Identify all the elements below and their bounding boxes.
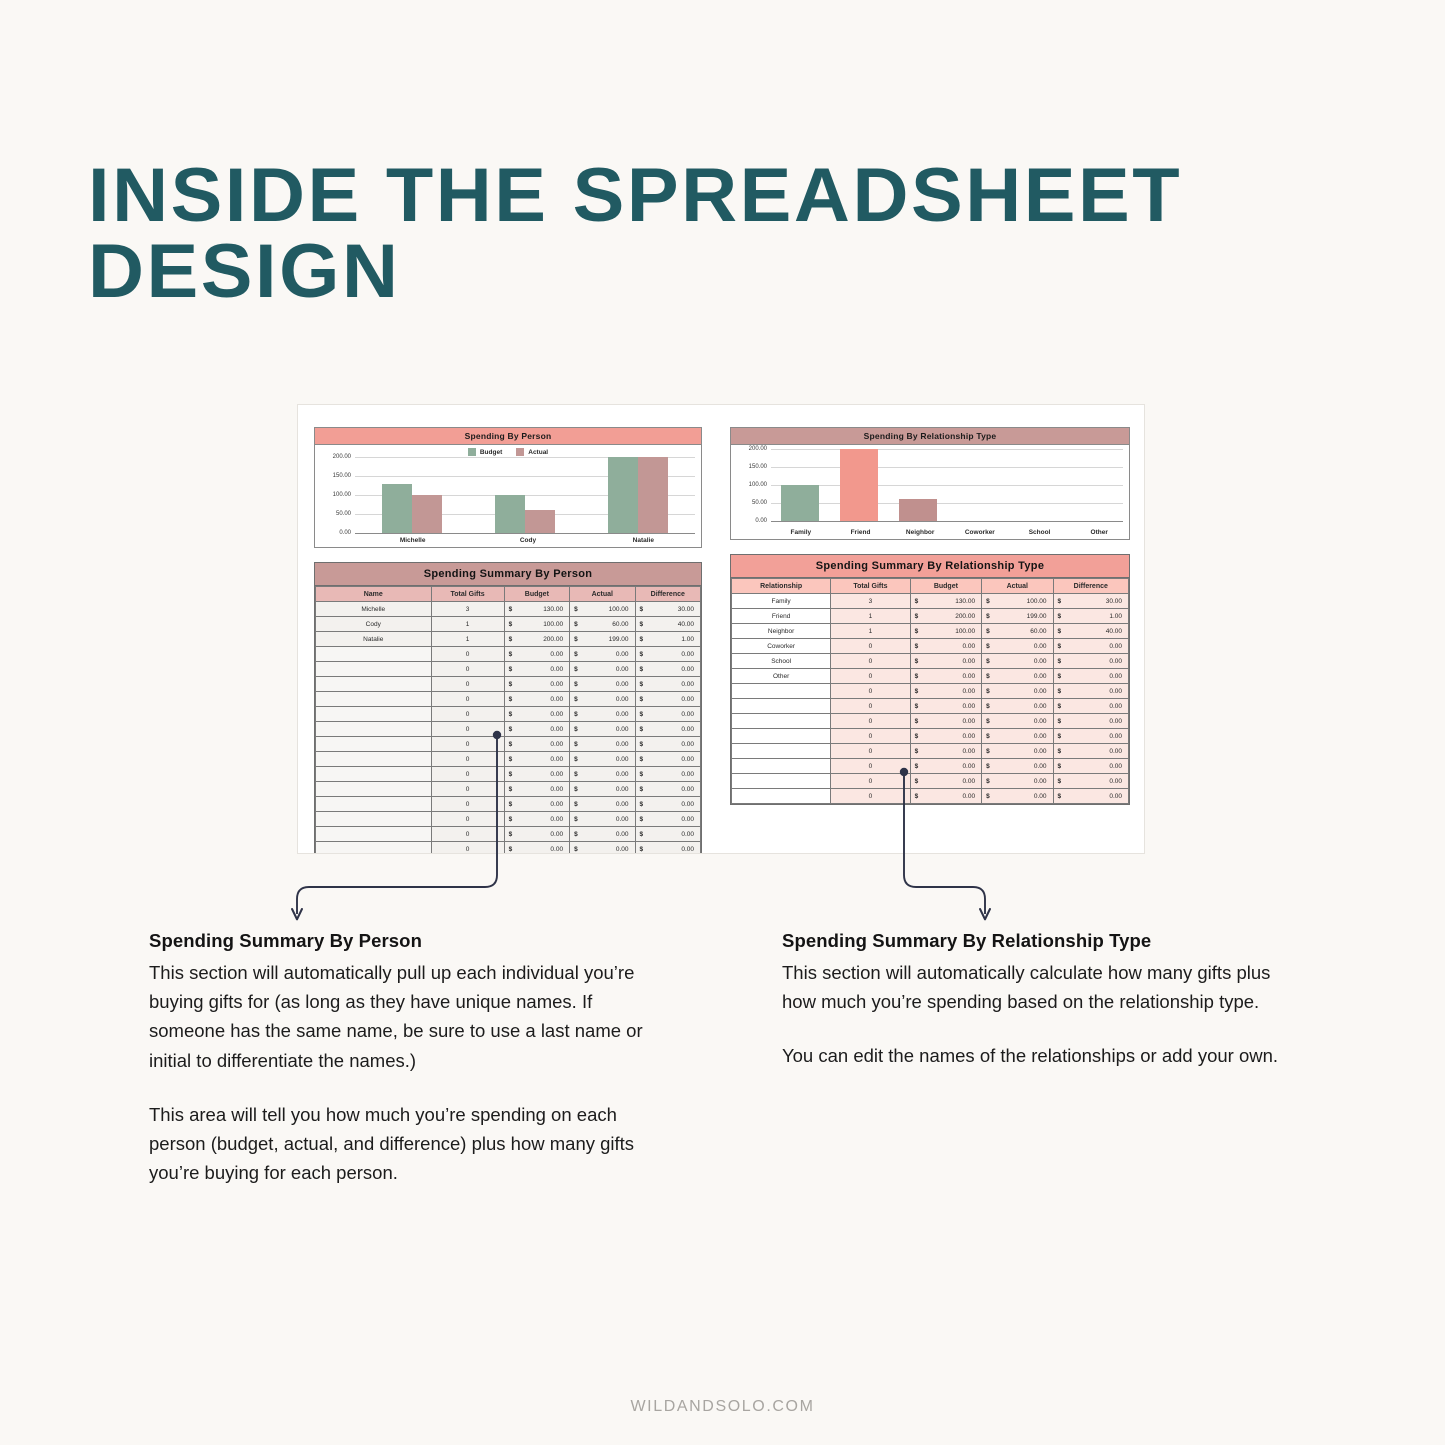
cell-difference[interactable]: $1.00 [1053, 609, 1128, 624]
currency-symbol: $ [640, 816, 644, 823]
bar-michelle-actual [412, 495, 442, 533]
spending-by-relationship-panel: Spending By Relationship Type 200.00 150… [730, 427, 1130, 805]
cell-name[interactable]: Natalie [316, 632, 432, 647]
cell-budget[interactable]: $100.00 [504, 617, 569, 632]
cell-budget[interactable]: $100.00 [910, 624, 981, 639]
cell-difference[interactable]: $0.00 [1053, 774, 1128, 789]
cell-budget[interactable]: $0.00 [910, 654, 981, 669]
cell-budget[interactable]: $0.00 [910, 759, 981, 774]
cell-difference[interactable]: $40.00 [635, 617, 700, 632]
cell-actual[interactable]: $0.00 [982, 714, 1053, 729]
cell-name[interactable] [732, 789, 831, 804]
cell-difference[interactable]: $0.00 [635, 767, 700, 782]
cell-actual[interactable]: $0.00 [570, 692, 635, 707]
table-row[interactable]: 0$0.00$0.00$0.00 [732, 759, 1129, 774]
cell-difference[interactable]: $0.00 [635, 692, 700, 707]
cell-budget[interactable]: $0.00 [504, 797, 569, 812]
cell-difference[interactable]: $0.00 [635, 662, 700, 677]
table-row[interactable]: Neighbor1$100.00$60.00$40.00 [732, 624, 1129, 639]
bar-group-container [355, 457, 695, 533]
cell-budget[interactable]: $0.00 [504, 752, 569, 767]
currency-symbol: $ [1058, 613, 1062, 620]
cell-budget[interactable]: $0.00 [504, 782, 569, 797]
cell-total-gifts[interactable]: 0 [431, 767, 504, 782]
cell-difference[interactable]: $0.00 [635, 782, 700, 797]
cell-actual[interactable]: $100.00 [982, 594, 1053, 609]
currency-symbol: $ [1058, 628, 1062, 635]
cell-total-gifts[interactable]: 0 [431, 692, 504, 707]
cell-total-gifts[interactable]: 0 [831, 699, 910, 714]
currency-symbol: $ [640, 621, 644, 628]
cell-total-gifts[interactable]: 0 [831, 669, 910, 684]
bar-friend [840, 449, 878, 521]
cell-difference[interactable]: $0.00 [1053, 729, 1128, 744]
currency-symbol: $ [574, 741, 578, 748]
cell-name[interactable]: Friend [732, 609, 831, 624]
cell-actual[interactable]: $0.00 [570, 707, 635, 722]
ytick-label: 100.00 [731, 482, 767, 488]
cell-actual[interactable]: $0.00 [570, 782, 635, 797]
cell-total-gifts[interactable]: 0 [831, 759, 910, 774]
cell-total-gifts[interactable]: 1 [431, 632, 504, 647]
cell-actual[interactable]: $0.00 [570, 722, 635, 737]
cell-name[interactable] [732, 729, 831, 744]
bar-group-coworker [947, 445, 1006, 521]
cell-total-gifts[interactable]: 1 [831, 624, 910, 639]
caption-heading-person: Spending Summary By Person [149, 930, 649, 952]
ytick-label: 100.00 [315, 492, 351, 498]
cell-total-gifts[interactable]: 0 [831, 654, 910, 669]
currency-symbol: $ [574, 786, 578, 793]
currency-symbol: $ [1058, 793, 1062, 800]
cell-difference[interactable]: $0.00 [635, 827, 700, 842]
cell-name[interactable] [316, 677, 432, 692]
table-row[interactable]: 0$0.00$0.00$0.00 [732, 699, 1129, 714]
cell-name[interactable] [732, 759, 831, 774]
cell-budget[interactable]: $0.00 [910, 699, 981, 714]
cell-total-gifts[interactable]: 0 [431, 827, 504, 842]
cell-difference[interactable]: $0.00 [635, 647, 700, 662]
cell-budget[interactable]: $0.00 [910, 744, 981, 759]
cell-budget[interactable]: $0.00 [504, 647, 569, 662]
bar-cody-actual [525, 510, 555, 533]
cell-difference[interactable]: $0.00 [635, 707, 700, 722]
cell-total-gifts[interactable]: 0 [431, 812, 504, 827]
cell-total-gifts[interactable]: 0 [431, 722, 504, 737]
currency-symbol: $ [1058, 673, 1062, 680]
spending-by-person-chart: Spending By Person Budget Actual 200.00 [314, 427, 702, 548]
currency-symbol: $ [640, 846, 644, 853]
currency-symbol: $ [640, 636, 644, 643]
currency-symbol: $ [509, 651, 513, 658]
caption-person: Spending Summary By Person This section … [149, 930, 649, 1188]
cell-total-gifts[interactable]: 0 [831, 789, 910, 804]
currency-symbol: $ [640, 786, 644, 793]
cell-difference[interactable]: $30.00 [635, 602, 700, 617]
currency-symbol: $ [640, 771, 644, 778]
cell-difference[interactable]: $0.00 [635, 842, 700, 855]
cell-budget[interactable]: $200.00 [910, 609, 981, 624]
cell-budget[interactable]: $0.00 [910, 774, 981, 789]
chart-title-relationship: Spending By Relationship Type [731, 428, 1129, 445]
col-header-budget: Budget [504, 587, 569, 602]
cell-budget[interactable]: $0.00 [910, 684, 981, 699]
table-row[interactable]: 0$0.00$0.00$0.00 [316, 707, 701, 722]
cell-actual[interactable]: $0.00 [570, 677, 635, 692]
cell-actual[interactable]: $0.00 [570, 662, 635, 677]
cell-budget[interactable]: $0.00 [504, 812, 569, 827]
cell-actual[interactable]: $60.00 [570, 617, 635, 632]
cell-difference[interactable]: $0.00 [635, 752, 700, 767]
table-row[interactable]: 0$0.00$0.00$0.00 [732, 729, 1129, 744]
table-row[interactable]: 0$0.00$0.00$0.00 [732, 789, 1129, 804]
chart-xaxis-person: Michelle Cody Natalie [355, 535, 701, 547]
col-header-budget: Budget [910, 579, 981, 594]
table-row[interactable]: 0$0.00$0.00$0.00 [732, 774, 1129, 789]
cell-name[interactable]: School [732, 654, 831, 669]
table-row[interactable]: 0$0.00$0.00$0.00 [316, 752, 701, 767]
cell-budget[interactable]: $0.00 [504, 767, 569, 782]
cell-actual[interactable]: $0.00 [982, 729, 1053, 744]
cell-actual[interactable]: $0.00 [982, 639, 1053, 654]
bar-family [781, 485, 819, 521]
cell-difference[interactable]: $0.00 [1053, 714, 1128, 729]
currency-symbol: $ [509, 606, 513, 613]
cell-actual[interactable]: $0.00 [982, 669, 1053, 684]
currency-symbol: $ [986, 793, 990, 800]
table-row[interactable]: 0$0.00$0.00$0.00 [316, 677, 701, 692]
cell-actual[interactable]: $0.00 [570, 737, 635, 752]
cell-actual[interactable]: $0.00 [570, 812, 635, 827]
cell-name[interactable]: Other [732, 669, 831, 684]
currency-symbol: $ [574, 666, 578, 673]
bar-group-friend [830, 445, 889, 521]
table-row[interactable]: 0$0.00$0.00$0.00 [732, 714, 1129, 729]
table-row[interactable]: 0$0.00$0.00$0.00 [316, 782, 701, 797]
currency-symbol: $ [986, 613, 990, 620]
currency-symbol: $ [640, 726, 644, 733]
footer-website: WILDANDSOLO.COM [0, 1398, 1445, 1416]
cell-actual[interactable]: $0.00 [982, 744, 1053, 759]
col-header-actual: Actual [570, 587, 635, 602]
cell-total-gifts[interactable]: 3 [431, 602, 504, 617]
currency-symbol: $ [640, 741, 644, 748]
cell-budget[interactable]: $0.00 [910, 729, 981, 744]
table-row[interactable]: 0$0.00$0.00$0.00 [316, 842, 701, 855]
cell-budget[interactable]: $130.00 [504, 602, 569, 617]
table-row[interactable]: Other0$0.00$0.00$0.00 [732, 669, 1129, 684]
cell-total-gifts[interactable]: 0 [831, 684, 910, 699]
cell-budget[interactable]: $0.00 [504, 827, 569, 842]
currency-symbol: $ [1058, 703, 1062, 710]
col-header-total-gifts: Total Gifts [431, 587, 504, 602]
cell-difference[interactable]: $0.00 [1053, 789, 1128, 804]
table-row[interactable]: 0$0.00$0.00$0.00 [316, 767, 701, 782]
table-row[interactable]: 0$0.00$0.00$0.00 [316, 797, 701, 812]
cell-name[interactable] [316, 842, 432, 855]
bar-michelle-budget [382, 484, 412, 533]
currency-symbol: $ [986, 658, 990, 665]
cell-total-gifts[interactable]: 0 [831, 774, 910, 789]
currency-symbol: $ [574, 801, 578, 808]
spreadsheet-screenshot: Spending By Person Budget Actual 200.00 [297, 404, 1145, 854]
xtick-label: Coworker [950, 529, 1010, 536]
cell-actual[interactable]: $0.00 [982, 774, 1053, 789]
cell-name[interactable] [732, 774, 831, 789]
currency-symbol: $ [509, 696, 513, 703]
cell-name[interactable]: Coworker [732, 639, 831, 654]
cell-budget[interactable]: $0.00 [504, 707, 569, 722]
currency-symbol: $ [574, 696, 578, 703]
table-row[interactable]: 0$0.00$0.00$0.00 [732, 684, 1129, 699]
currency-symbol: $ [509, 831, 513, 838]
cell-name[interactable] [732, 684, 831, 699]
cell-name[interactable] [732, 744, 831, 759]
currency-symbol: $ [574, 711, 578, 718]
table-header-row: Relationship Total Gifts Budget Actual D… [732, 579, 1129, 594]
cell-difference[interactable]: $0.00 [1053, 759, 1128, 774]
cell-total-gifts[interactable]: 0 [431, 662, 504, 677]
cell-name[interactable] [316, 647, 432, 662]
cell-difference[interactable]: $40.00 [1053, 624, 1128, 639]
cell-actual[interactable]: $100.00 [570, 602, 635, 617]
table-row[interactable]: 0$0.00$0.00$0.00 [316, 737, 701, 752]
cell-budget[interactable]: $0.00 [910, 714, 981, 729]
cell-budget[interactable]: $0.00 [504, 677, 569, 692]
cell-budget[interactable]: $0.00 [504, 692, 569, 707]
cell-actual[interactable]: $199.00 [982, 609, 1053, 624]
currency-symbol: $ [574, 636, 578, 643]
currency-symbol: $ [915, 673, 919, 680]
cell-name[interactable]: Neighbor [732, 624, 831, 639]
bar-group-other [1064, 445, 1123, 521]
chart-xaxis-relationship: Family Friend Neighbor Coworker School O… [771, 527, 1129, 539]
ytick-label: 150.00 [315, 473, 351, 479]
cell-total-gifts[interactable]: 1 [831, 609, 910, 624]
cell-actual[interactable]: $0.00 [570, 647, 635, 662]
currency-symbol: $ [640, 696, 644, 703]
cell-budget[interactable]: $0.00 [910, 639, 981, 654]
cell-name[interactable] [316, 752, 432, 767]
table-row[interactable]: Friend1$200.00$199.00$1.00 [732, 609, 1129, 624]
currency-symbol: $ [574, 621, 578, 628]
bar-natalie-actual [638, 457, 668, 533]
table-row[interactable]: Coworker0$0.00$0.00$0.00 [732, 639, 1129, 654]
table-row[interactable]: 0$0.00$0.00$0.00 [316, 812, 701, 827]
caption-paragraph-person-1: This section will automatically pull up … [149, 958, 649, 1075]
cell-difference[interactable]: $30.00 [1053, 594, 1128, 609]
cell-name[interactable] [732, 699, 831, 714]
cell-total-gifts[interactable]: 0 [831, 639, 910, 654]
cell-name[interactable] [316, 827, 432, 842]
currency-symbol: $ [640, 681, 644, 688]
bar-group-natalie [582, 457, 695, 533]
currency-symbol: $ [640, 651, 644, 658]
table-row[interactable]: 0$0.00$0.00$0.00 [316, 647, 701, 662]
cell-difference[interactable]: $0.00 [1053, 684, 1128, 699]
currency-symbol: $ [915, 763, 919, 770]
legend-swatch-actual [516, 448, 524, 456]
xtick-label: Cody [470, 537, 585, 544]
spending-summary-by-relationship-table: Spending Summary By Relationship Type Re… [730, 554, 1130, 805]
currency-symbol: $ [574, 816, 578, 823]
cell-budget[interactable]: $0.00 [910, 789, 981, 804]
currency-symbol: $ [640, 756, 644, 763]
table-row[interactable]: 0$0.00$0.00$0.00 [316, 827, 701, 842]
cell-name[interactable] [316, 662, 432, 677]
currency-symbol: $ [986, 673, 990, 680]
currency-symbol: $ [640, 831, 644, 838]
cell-total-gifts[interactable]: 3 [831, 594, 910, 609]
cell-total-gifts[interactable]: 0 [831, 729, 910, 744]
cell-total-gifts[interactable]: 1 [431, 617, 504, 632]
cell-difference[interactable]: $0.00 [1053, 654, 1128, 669]
legend-label-actual: Actual [528, 449, 548, 456]
cell-total-gifts[interactable]: 0 [431, 782, 504, 797]
currency-symbol: $ [574, 846, 578, 853]
cell-difference[interactable]: $0.00 [635, 797, 700, 812]
bar-group-michelle [355, 457, 468, 533]
col-header-relationship: Relationship [732, 579, 831, 594]
cell-total-gifts[interactable]: 0 [431, 737, 504, 752]
cell-budget[interactable]: $0.00 [910, 669, 981, 684]
cell-name[interactable]: Family [732, 594, 831, 609]
cell-actual[interactable]: $0.00 [982, 759, 1053, 774]
table-row[interactable]: 0$0.00$0.00$0.00 [732, 744, 1129, 759]
currency-symbol: $ [509, 681, 513, 688]
currency-symbol: $ [915, 733, 919, 740]
cell-actual[interactable]: $0.00 [570, 842, 635, 855]
currency-symbol: $ [1058, 733, 1062, 740]
cell-total-gifts[interactable]: 0 [431, 647, 504, 662]
currency-symbol: $ [1058, 763, 1062, 770]
currency-symbol: $ [986, 628, 990, 635]
cell-total-gifts[interactable]: 0 [431, 842, 504, 855]
cell-name[interactable]: Michelle [316, 602, 432, 617]
legend-swatch-budget [468, 448, 476, 456]
xtick-label: Neighbor [890, 529, 950, 536]
currency-symbol: $ [509, 711, 513, 718]
currency-symbol: $ [915, 598, 919, 605]
cell-name[interactable] [316, 782, 432, 797]
currency-symbol: $ [915, 748, 919, 755]
bar-cody-budget [495, 495, 525, 533]
currency-symbol: $ [1058, 718, 1062, 725]
cell-name[interactable] [316, 692, 432, 707]
person-table: Name Total Gifts Budget Actual Differenc… [315, 586, 701, 854]
table-row[interactable]: Cody1$100.00$60.00$40.00 [316, 617, 701, 632]
cell-actual[interactable]: $199.00 [570, 632, 635, 647]
currency-symbol: $ [1058, 778, 1062, 785]
currency-symbol: $ [574, 726, 578, 733]
currency-symbol: $ [640, 606, 644, 613]
currency-symbol: $ [509, 666, 513, 673]
table-row[interactable]: 0$0.00$0.00$0.00 [316, 722, 701, 737]
cell-actual[interactable]: $0.00 [570, 752, 635, 767]
cell-actual[interactable]: $0.00 [982, 684, 1053, 699]
cell-budget[interactable]: $0.00 [504, 722, 569, 737]
table-row[interactable]: Michelle3$130.00$100.00$30.00 [316, 602, 701, 617]
bar-group-family [771, 445, 830, 521]
spending-by-relationship-chart: Spending By Relationship Type 200.00 150… [730, 427, 1130, 540]
cell-name[interactable] [316, 737, 432, 752]
col-header-name: Name [316, 587, 432, 602]
cell-actual[interactable]: $0.00 [570, 797, 635, 812]
cell-name[interactable]: Cody [316, 617, 432, 632]
table-row[interactable]: School0$0.00$0.00$0.00 [732, 654, 1129, 669]
cell-name[interactable] [316, 767, 432, 782]
legend-label-budget: Budget [480, 449, 502, 456]
cell-budget[interactable]: $0.00 [504, 842, 569, 855]
table-row[interactable]: 0$0.00$0.00$0.00 [316, 662, 701, 677]
xtick-label: Natalie [586, 537, 701, 544]
xtick-label: Other [1069, 529, 1129, 536]
cell-total-gifts[interactable]: 0 [431, 797, 504, 812]
cell-difference[interactable]: $0.00 [1053, 639, 1128, 654]
cell-actual[interactable]: $0.00 [570, 767, 635, 782]
currency-symbol: $ [640, 666, 644, 673]
cell-budget[interactable]: $0.00 [504, 737, 569, 752]
cell-actual[interactable]: $0.00 [982, 789, 1053, 804]
currency-symbol: $ [509, 741, 513, 748]
cell-difference[interactable]: $0.00 [635, 722, 700, 737]
xtick-label: Family [771, 529, 831, 536]
cell-total-gifts[interactable]: 0 [431, 752, 504, 767]
cell-actual[interactable]: $0.00 [570, 827, 635, 842]
cell-difference[interactable]: $0.00 [1053, 744, 1128, 759]
cell-budget[interactable]: $0.00 [504, 662, 569, 677]
caption-heading-relationship: Spending Summary By Relationship Type [782, 930, 1297, 952]
table-header-row: Name Total Gifts Budget Actual Differenc… [316, 587, 701, 602]
table-row[interactable]: 0$0.00$0.00$0.00 [316, 692, 701, 707]
cell-difference[interactable]: $0.00 [635, 812, 700, 827]
currency-symbol: $ [1058, 658, 1062, 665]
cell-actual[interactable]: $60.00 [982, 624, 1053, 639]
cell-name[interactable] [316, 812, 432, 827]
cell-difference[interactable]: $0.00 [635, 677, 700, 692]
table-row[interactable]: Natalie1$200.00$199.00$1.00 [316, 632, 701, 647]
currency-symbol: $ [915, 778, 919, 785]
cell-total-gifts[interactable]: 0 [831, 714, 910, 729]
cell-name[interactable] [316, 707, 432, 722]
cell-budget[interactable]: $200.00 [504, 632, 569, 647]
cell-total-gifts[interactable]: 0 [431, 707, 504, 722]
currency-symbol: $ [915, 703, 919, 710]
cell-difference[interactable]: $0.00 [635, 737, 700, 752]
cell-name[interactable] [316, 797, 432, 812]
cell-name[interactable] [732, 714, 831, 729]
cell-difference[interactable]: $1.00 [635, 632, 700, 647]
cell-name[interactable] [316, 722, 432, 737]
caption-paragraph-relationship-1: This section will automatically calculat… [782, 958, 1297, 1016]
currency-symbol: $ [1058, 598, 1062, 605]
cell-difference[interactable]: $0.00 [1053, 669, 1128, 684]
currency-symbol: $ [915, 793, 919, 800]
currency-symbol: $ [574, 756, 578, 763]
legend-item-actual: Actual [516, 448, 548, 456]
table-row[interactable]: Family3$130.00$100.00$30.00 [732, 594, 1129, 609]
person-table-body: Michelle3$130.00$100.00$30.00Cody1$100.0… [316, 602, 701, 855]
cell-total-gifts[interactable]: 0 [831, 744, 910, 759]
currency-symbol: $ [986, 703, 990, 710]
cell-total-gifts[interactable]: 0 [431, 677, 504, 692]
cell-actual[interactable]: $0.00 [982, 699, 1053, 714]
bar-group-neighbor [888, 445, 947, 521]
chart-plot-relationship: 200.00 150.00 100.00 50.00 0.00 [731, 445, 1123, 527]
cell-difference[interactable]: $0.00 [1053, 699, 1128, 714]
cell-actual[interactable]: $0.00 [982, 654, 1053, 669]
cell-budget[interactable]: $130.00 [910, 594, 981, 609]
